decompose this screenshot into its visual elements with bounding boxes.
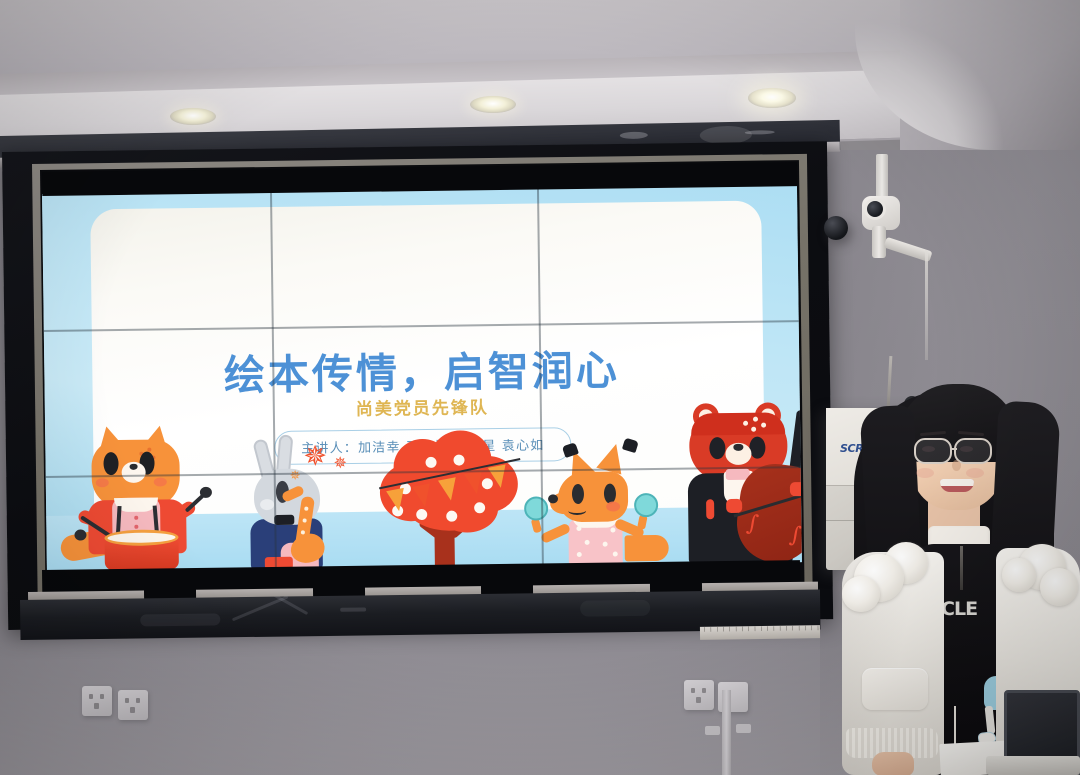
bear-cellist-figure: ∫ ∫ — [685, 402, 802, 564]
recessed-ceiling-downlight — [748, 88, 796, 108]
bear-head-band — [691, 412, 785, 435]
recessed-ceiling-downlight — [170, 108, 216, 125]
wall-outlet-left-2[interactable] — [118, 690, 148, 720]
bear-eye-right — [749, 437, 765, 459]
lcd-video-wall[interactable]: 绘本传情，启智润心 尚美党员先锋队 主讲人：加洁幸 王书悦 李宇星 袁心如 — [2, 152, 827, 630]
measuring-scale-strip: |||||||||||||||||||| — [700, 625, 820, 640]
bear-hand-bow — [726, 499, 742, 513]
music-sparkle-star: ✵ — [303, 442, 327, 470]
video-wall-screen-surface[interactable]: 绘本传情，启智润心 尚美党员先锋队 主讲人：加洁幸 王书悦 李宇星 袁心如 — [42, 184, 802, 572]
music-sparkle-star: ✵ — [333, 456, 347, 472]
nose — [952, 460, 961, 471]
cat-drummer-figure — [81, 425, 213, 572]
glasses-lens-left — [914, 438, 952, 464]
conduit-clip — [705, 726, 720, 735]
recessed-ceiling-downlight — [470, 96, 516, 113]
bear-eye-left — [709, 437, 725, 459]
fur-trim-tuft — [1040, 568, 1078, 606]
maraca-right — [634, 493, 658, 517]
music-sparkle-star: ✵ — [290, 469, 301, 482]
cat-mallet-right — [200, 487, 212, 498]
rabbit-saxophonist-figure: ✵ ✵ ✵ — [245, 438, 357, 569]
clasped-hands — [872, 752, 914, 775]
fur-trim-tuft — [842, 576, 880, 612]
cheek-left — [916, 468, 934, 478]
jacket-pocket — [862, 668, 928, 710]
glasses-lens-right — [954, 438, 992, 464]
rabbit-bowtie — [274, 515, 294, 525]
bear-nose — [733, 444, 743, 451]
cheek-right — [966, 468, 984, 478]
bear-lapel-flower — [700, 499, 720, 519]
red-dotted-tree — [375, 426, 527, 568]
camera-lens-icon — [864, 198, 886, 220]
camera-cable — [925, 250, 928, 360]
smiling-mouth — [940, 479, 974, 492]
presentation-slide: 绘本传情，启智润心 尚美党员先锋队 主讲人：加洁幸 王书悦 李宇星 袁心如 — [42, 184, 802, 572]
cat-mallet-left — [74, 529, 86, 540]
wall-outlet-right-1[interactable] — [684, 680, 714, 710]
cat-eye-left — [103, 452, 118, 475]
room-photo-scene: 绘本传情，启智润心 尚美党员先锋队 主讲人：加洁幸 王书悦 李宇星 袁心如 — [0, 0, 1080, 775]
fox-tail — [625, 535, 669, 562]
glasses-bridge — [951, 448, 957, 450]
fox-nose — [548, 494, 558, 503]
fox-with-maracas-figure — [545, 439, 667, 566]
half-zip — [960, 546, 963, 590]
conduit-clip — [736, 724, 751, 733]
fox-eye-left — [572, 484, 584, 504]
fur-trim-tuft — [1002, 558, 1036, 592]
laptop-base — [986, 756, 1080, 775]
surface-cable-conduit — [722, 690, 731, 775]
wall-outlet-left-1[interactable] — [82, 686, 112, 716]
teeth — [940, 479, 974, 486]
bear-hand-neck — [790, 482, 802, 496]
black-dome-sensor — [824, 216, 848, 240]
